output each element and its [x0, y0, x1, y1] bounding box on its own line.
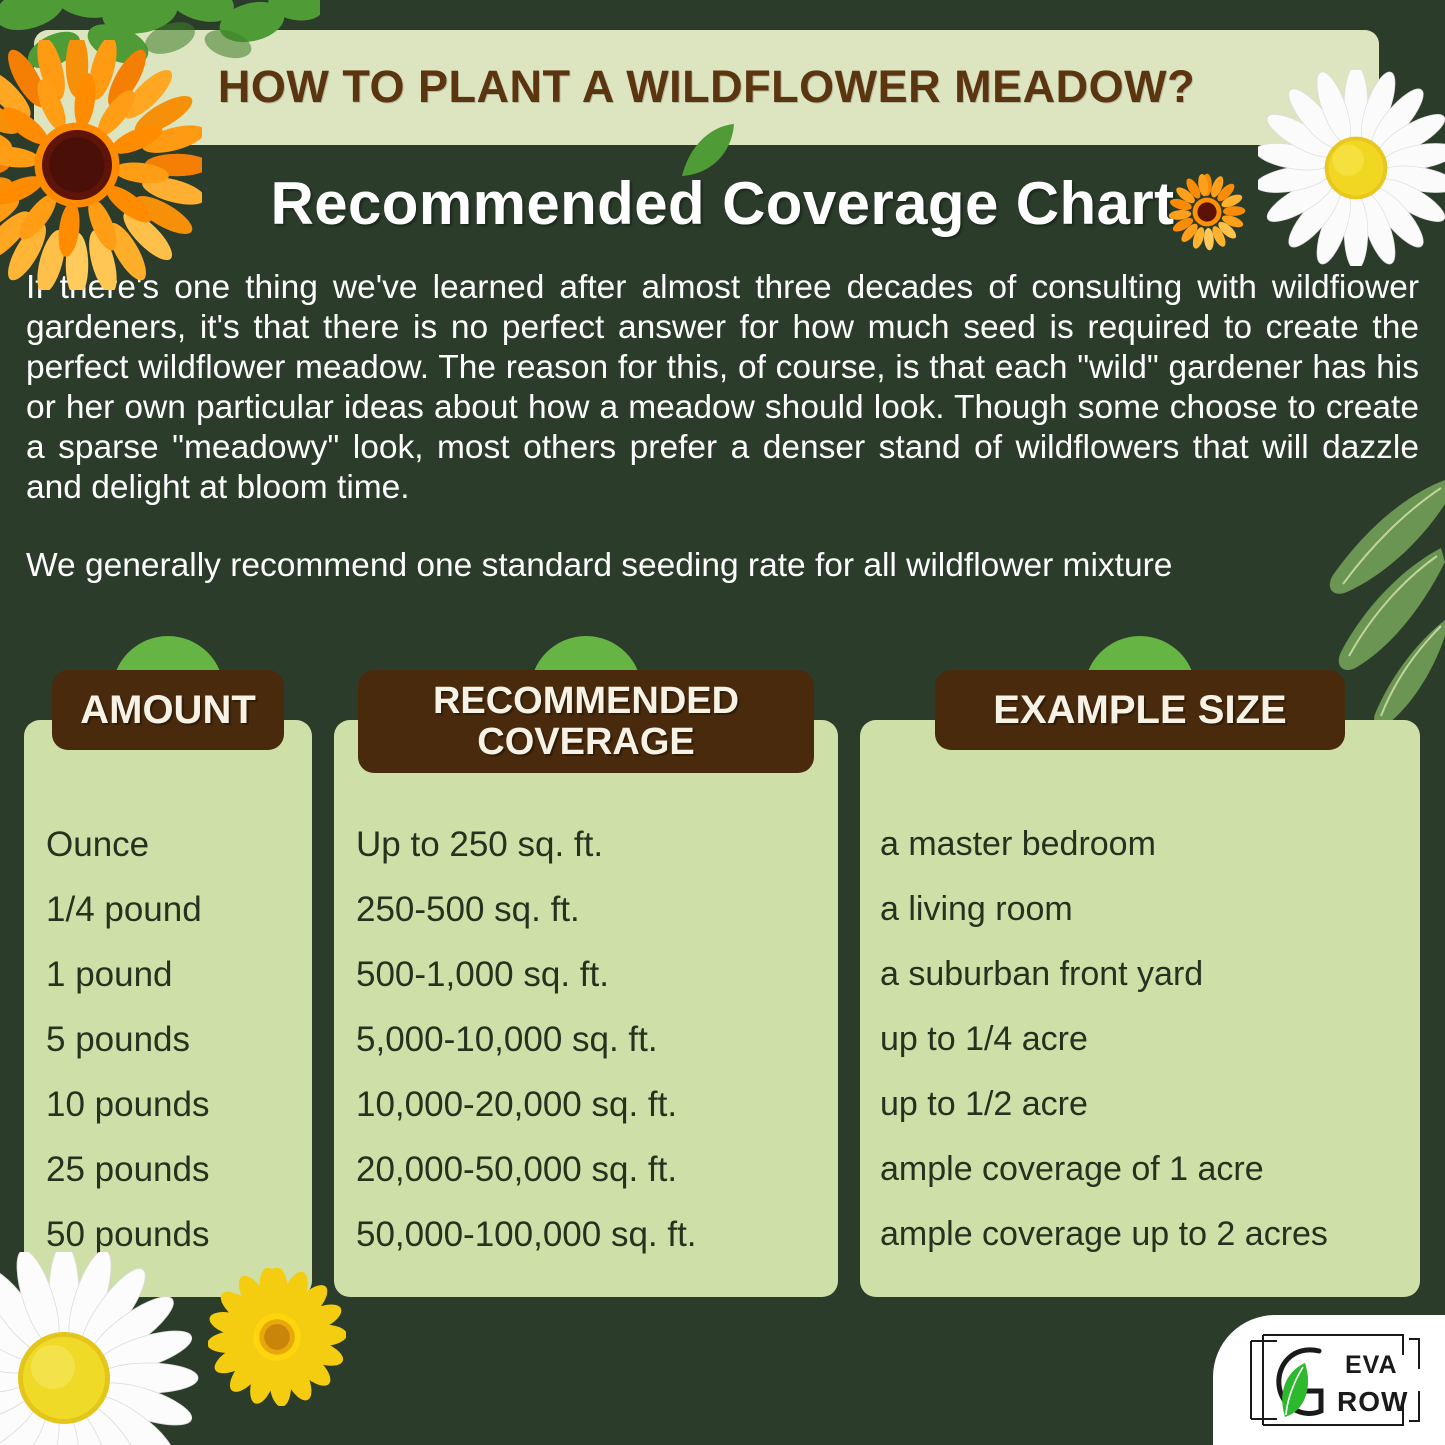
example-rows: a master bedroom a living room a suburba…: [860, 812, 1420, 1267]
column-header-label: RECOMMENDED COVERAGE: [433, 681, 739, 762]
poster-root: HOW TO PLANT A WILDFLOWER MEADOW? Recomm…: [0, 0, 1445, 1445]
intro-text-block: If there's one thing we've learned after…: [26, 268, 1419, 586]
table-row: 1 pound: [46, 942, 302, 1007]
column-header-recommended-coverage: RECOMMENDED COVERAGE: [358, 670, 814, 773]
subtitle-row: Recommended Coverage Chart: [0, 163, 1445, 243]
table-row: a suburban front yard: [880, 942, 1410, 1007]
table-row: Ounce: [46, 812, 302, 877]
amount-rows: Ounce 1/4 pound 1 pound 5 pounds 10 poun…: [24, 812, 312, 1267]
table-row: 5 pounds: [46, 1007, 302, 1072]
table-row: up to 1/4 acre: [880, 1007, 1410, 1072]
column-card-body: Ounce 1/4 pound 1 pound 5 pounds 10 poun…: [24, 720, 312, 1297]
table-row: a master bedroom: [880, 812, 1410, 877]
eva-grow-logo: EVA ROW: [1233, 1325, 1429, 1435]
table-row: ample coverage of 1 acre: [880, 1137, 1410, 1202]
table-row: 20,000-50,000 sq. ft.: [356, 1137, 828, 1202]
table-row: 500-1,000 sq. ft.: [356, 942, 828, 1007]
page-title: HOW TO PLANT A WILDFLOWER MEADOW?: [34, 60, 1379, 112]
table-row: ample coverage up to 2 acres: [880, 1202, 1410, 1267]
coverage-rows: Up to 250 sq. ft. 250-500 sq. ft. 500-1,…: [334, 812, 838, 1267]
column-header-line1: RECOMMENDED: [433, 680, 739, 722]
column-header-line2: COVERAGE: [477, 721, 694, 763]
table-row: 50 pounds: [46, 1202, 302, 1267]
paragraph-1: If there's one thing we've learned after…: [26, 268, 1419, 508]
table-row: 50,000-100,000 sq. ft.: [356, 1202, 828, 1267]
coverage-table: Ounce 1/4 pound 1 pound 5 pounds 10 poun…: [0, 636, 1445, 1276]
table-row: 5,000-10,000 sq. ft.: [356, 1007, 828, 1072]
table-row: up to 1/2 acre: [880, 1072, 1410, 1137]
table-row: 10,000-20,000 sq. ft.: [356, 1072, 828, 1137]
table-row: 1/4 pound: [46, 877, 302, 942]
table-row: 25 pounds: [46, 1137, 302, 1202]
column-card-body: Up to 250 sq. ft. 250-500 sq. ft. 500-1,…: [334, 720, 838, 1297]
paragraph-2: We generally recommend one standard seed…: [26, 546, 1419, 586]
column-header-label: AMOUNT: [80, 689, 256, 731]
logo-text-eva: EVA: [1345, 1351, 1398, 1379]
column-header-label: EXAMPLE SIZE: [993, 689, 1286, 731]
table-row: a living room: [880, 877, 1410, 942]
table-row: 10 pounds: [46, 1072, 302, 1137]
column-header-example-size: EXAMPLE SIZE: [935, 670, 1345, 750]
page-subtitle: Recommended Coverage Chart: [271, 169, 1175, 238]
table-row: Up to 250 sq. ft.: [356, 812, 828, 877]
logo-text-row: ROW: [1337, 1386, 1408, 1417]
column-card-body: a master bedroom a living room a suburba…: [860, 720, 1420, 1297]
column-header-amount: AMOUNT: [52, 670, 284, 750]
table-row: 250-500 sq. ft.: [356, 877, 828, 942]
